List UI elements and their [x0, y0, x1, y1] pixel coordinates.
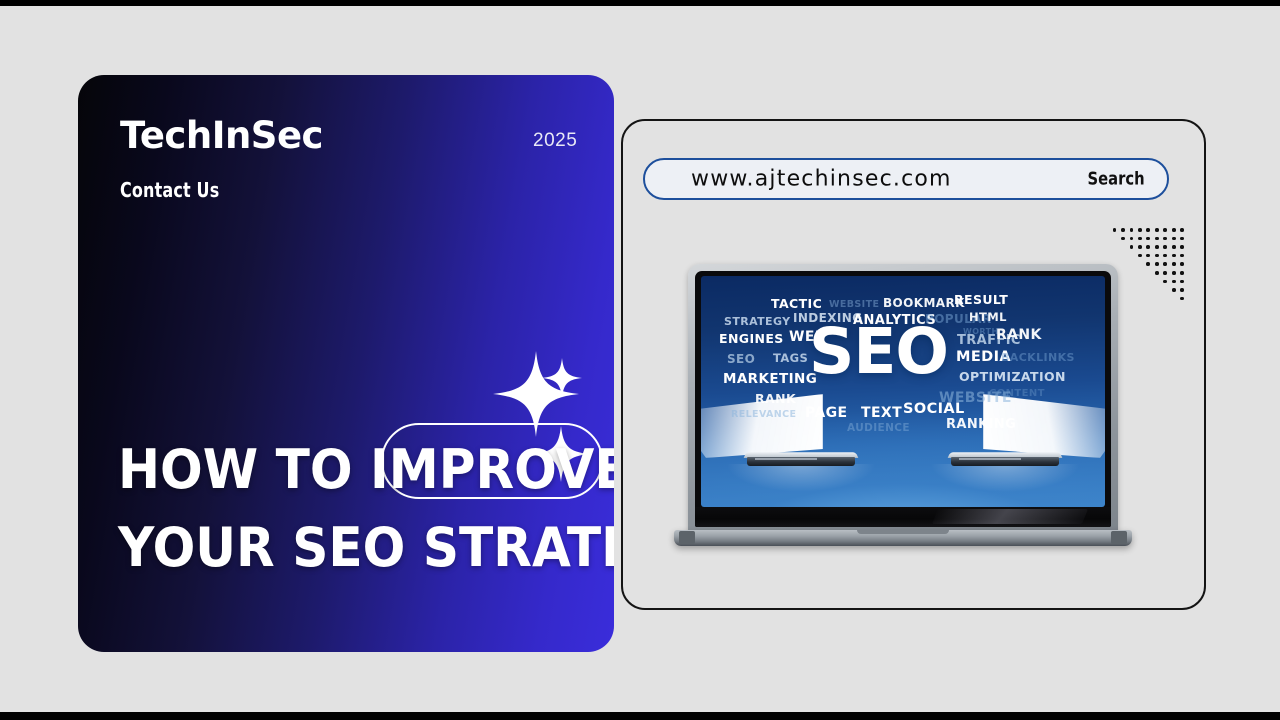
dot — [1163, 280, 1167, 284]
dot — [1146, 245, 1150, 249]
dot-row — [1106, 228, 1184, 237]
dot — [1163, 228, 1167, 232]
year-label: 2025 — [533, 130, 577, 152]
cloud-word: RESULT — [954, 294, 1008, 307]
dot — [1155, 245, 1159, 249]
dot — [1180, 237, 1184, 241]
cloud-word: RANKING — [946, 418, 1016, 431]
brand-title: TechInSec — [120, 117, 323, 154]
dot-row — [1106, 245, 1184, 254]
search-input[interactable]: www.ajtechinsec.com — [691, 167, 952, 192]
headline-line-1: HOW TO IMPROVE — [118, 431, 583, 509]
dot — [1163, 245, 1167, 249]
cloud-word: MARKETING — [723, 373, 817, 387]
headline-line-2: YOUR SEO STRATEGY — [118, 509, 583, 587]
dot — [1155, 271, 1159, 275]
dot — [1172, 288, 1176, 292]
dot — [1180, 262, 1184, 266]
dot — [1172, 262, 1176, 266]
laptop-screen: TACTICWEBSITEBOOKMARKRESULTSTRATEGYINDEX… — [701, 276, 1105, 507]
dot — [1130, 245, 1134, 249]
cloud-word: BACKLINKS — [1001, 352, 1075, 363]
cloud-word: ENGINES — [719, 333, 784, 346]
headline: HOW TO IMPROVE YOUR SEO STRATEGY — [118, 431, 583, 587]
dot — [1163, 271, 1167, 275]
cloud-word: SEO — [727, 353, 755, 365]
cloud-word: BOOKMARK — [883, 297, 965, 309]
dot — [1180, 297, 1184, 301]
laptop-chin-reflection — [932, 509, 1088, 524]
cloud-word: WEBSITE — [829, 300, 879, 310]
dot — [1172, 280, 1176, 284]
dot — [1113, 228, 1117, 232]
cloud-word: TAGS — [773, 353, 808, 365]
dot — [1172, 245, 1176, 249]
left-hero-card: TechInSec 2025 Contact Us HOW TO IMPROVE… — [78, 75, 614, 652]
dot — [1180, 288, 1184, 292]
dot — [1155, 254, 1159, 258]
laptop-bezel: TACTICWEBSITEBOOKMARKRESULTSTRATEGYINDEX… — [695, 271, 1111, 527]
dot — [1146, 237, 1150, 241]
dot — [1163, 237, 1167, 241]
dot — [1172, 271, 1176, 275]
seo-word-cloud: TACTICWEBSITEBOOKMARKRESULTSTRATEGYINDEX… — [701, 276, 1105, 507]
thumbnail-canvas: TechInSec 2025 Contact Us HOW TO IMPROVE… — [0, 0, 1280, 720]
dot — [1163, 254, 1167, 258]
dot — [1138, 228, 1142, 232]
dot — [1121, 237, 1125, 241]
dot — [1146, 254, 1150, 258]
laptop-mockup: TACTICWEBSITEBOOKMARKRESULTSTRATEGYINDEX… — [674, 264, 1132, 554]
dot-row — [1106, 237, 1184, 246]
cloud-word: PAGE — [805, 406, 847, 420]
dot — [1172, 237, 1176, 241]
dot — [1180, 228, 1184, 232]
dot — [1138, 245, 1142, 249]
search-button[interactable]: Search — [1088, 169, 1145, 190]
dot — [1155, 262, 1159, 266]
dot — [1180, 254, 1184, 258]
dot — [1155, 228, 1159, 232]
cloud-word: RANK — [996, 328, 1042, 342]
laptop-base — [674, 530, 1132, 546]
dot — [1180, 280, 1184, 284]
dot — [1146, 228, 1150, 232]
dot — [1130, 228, 1134, 232]
dot — [1130, 237, 1134, 241]
laptop-foot-right — [1111, 531, 1127, 544]
cloud-focus-word: SEO — [809, 320, 948, 383]
contact-us-label[interactable]: Contact Us — [120, 178, 219, 202]
cloud-word: CONTENT — [989, 389, 1045, 399]
dot — [1180, 271, 1184, 275]
letterbox-bottom — [0, 712, 1280, 720]
dot — [1172, 228, 1176, 232]
cloud-word: HTML — [969, 312, 1007, 324]
laptop-foot-left — [679, 531, 695, 544]
cloud-word: RANK — [755, 393, 796, 406]
dot — [1172, 254, 1176, 258]
cloud-word: RELEVANCE — [731, 410, 796, 420]
cloud-word: SOCIAL — [903, 402, 965, 417]
dot — [1138, 237, 1142, 241]
laptop-chin — [695, 507, 1111, 527]
dot — [1146, 262, 1150, 266]
sparkle-small-icon — [542, 358, 582, 398]
dot — [1163, 262, 1167, 266]
page-background: TechInSec 2025 Contact Us HOW TO IMPROVE… — [0, 6, 1280, 712]
dot — [1138, 254, 1142, 258]
cloud-word: AUDIENCE — [847, 423, 910, 434]
dot — [1180, 245, 1184, 249]
cloud-word: TEXT — [861, 406, 902, 420]
cloud-word: TACTIC — [771, 298, 822, 311]
dot — [1155, 237, 1159, 241]
dot-row — [1106, 254, 1184, 263]
search-bar[interactable]: www.ajtechinsec.com Search — [643, 158, 1169, 200]
cloud-word: STRATEGY — [724, 316, 791, 327]
laptop-lid: TACTICWEBSITEBOOKMARKRESULTSTRATEGYINDEX… — [688, 264, 1118, 534]
dot — [1121, 228, 1125, 232]
cloud-word: OPTIMIZATION — [959, 371, 1066, 384]
